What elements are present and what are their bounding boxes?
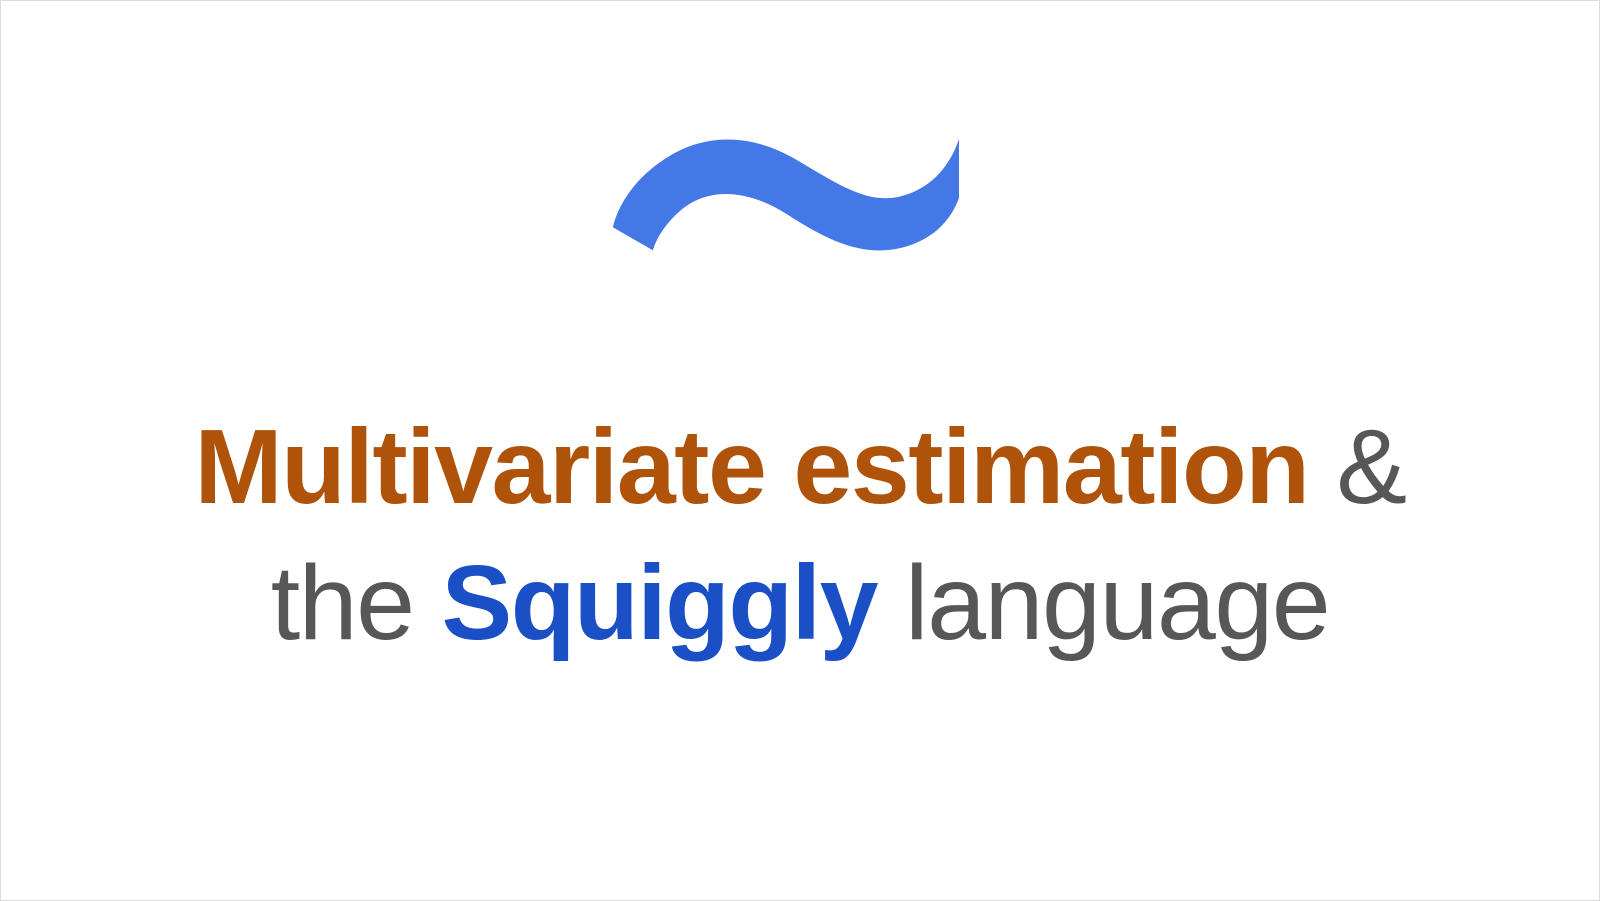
page-title: Multivariate estimation & the Squiggly l… xyxy=(1,399,1599,671)
title-line-1: Multivariate estimation & xyxy=(41,399,1559,535)
title-line-2: the Squiggly language xyxy=(41,535,1559,671)
squiggle-wave-icon xyxy=(601,137,973,269)
title-emphasis: Multivariate estimation xyxy=(194,408,1308,526)
title-ampersand: & xyxy=(1308,408,1405,526)
title-brand: Squiggly xyxy=(414,544,878,662)
title-suffix: language xyxy=(877,544,1329,662)
slide-canvas: Multivariate estimation & the Squiggly l… xyxy=(0,0,1600,901)
squiggle-logo xyxy=(601,137,973,269)
title-prefix: the xyxy=(271,544,414,662)
squiggle-wave-path xyxy=(613,139,959,251)
